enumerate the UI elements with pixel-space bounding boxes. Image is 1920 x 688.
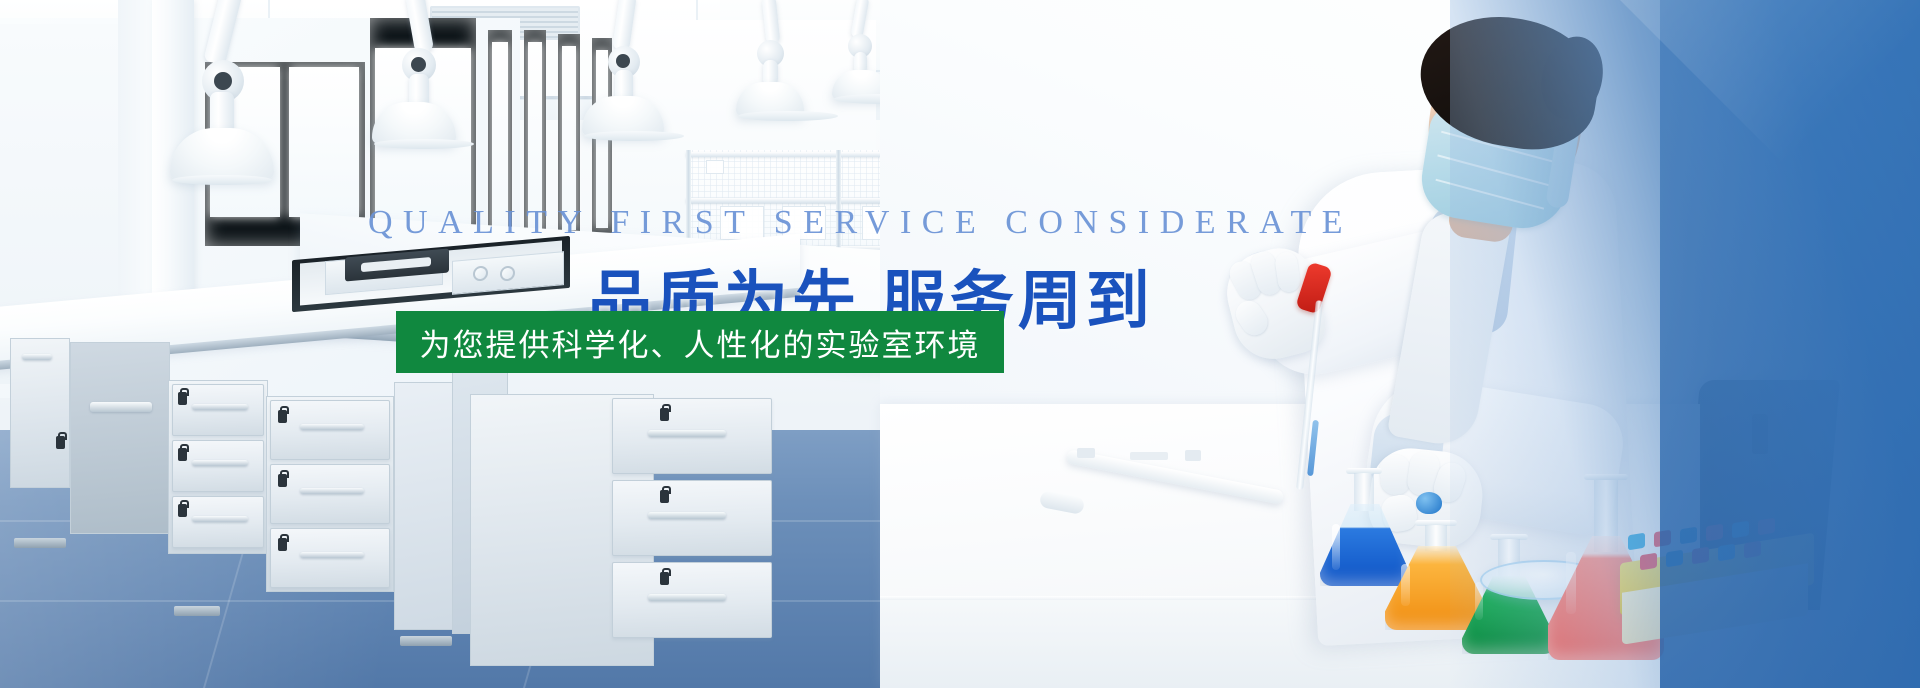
drawer-lock-icon xyxy=(278,474,287,487)
cabinet-foot xyxy=(14,538,66,548)
window-pane xyxy=(562,46,576,230)
drawer-handle[interactable] xyxy=(300,488,364,494)
drawer-lock-icon xyxy=(660,490,669,503)
drawer-lock-icon xyxy=(178,448,187,461)
drawer-handle xyxy=(90,402,152,412)
drawer-handle[interactable] xyxy=(192,404,248,410)
drawer-handle[interactable] xyxy=(648,430,726,437)
blue-liquid-droplet xyxy=(1416,492,1442,514)
cabinet-foot xyxy=(174,606,220,616)
subtitle-green-bar: 为您提供科学化、人性化的实验室环境 xyxy=(396,311,1004,373)
drawer-handle[interactable] xyxy=(300,424,364,430)
cabinet-lock-icon xyxy=(56,436,65,449)
drawer-handle[interactable] xyxy=(192,460,248,466)
drawer-lock-icon xyxy=(660,572,669,585)
drawer-handle[interactable] xyxy=(648,594,726,601)
headline-english: QUALITY FIRST SERVICE CONSIDERATE xyxy=(368,204,1288,242)
microscope-slide xyxy=(1077,448,1095,458)
microscope-slide xyxy=(1130,452,1168,460)
drawer-handle[interactable] xyxy=(300,552,364,558)
window-pane xyxy=(289,67,359,217)
cabinet-recess xyxy=(70,342,170,534)
promo-banner: QUALITY FIRST SERVICE CONSIDERATE 品质为先 服… xyxy=(0,0,1920,688)
subtitle-text: 为您提供科学化、人性化的实验室环境 xyxy=(420,320,981,365)
drawer-lock-icon xyxy=(278,410,287,423)
drawer-handle[interactable] xyxy=(648,512,726,519)
drawer-lock-icon xyxy=(660,408,669,421)
microscope-slide xyxy=(1185,450,1201,461)
drawer-lock-icon xyxy=(178,504,187,517)
drawer-lock-icon xyxy=(278,538,287,551)
cabinet-left xyxy=(10,338,70,488)
cabinet-handle xyxy=(22,354,52,360)
shelf-item xyxy=(706,160,724,174)
drawer-handle[interactable] xyxy=(192,516,248,522)
drawer-lock-icon xyxy=(178,392,187,405)
cabinet-foot xyxy=(400,636,452,646)
